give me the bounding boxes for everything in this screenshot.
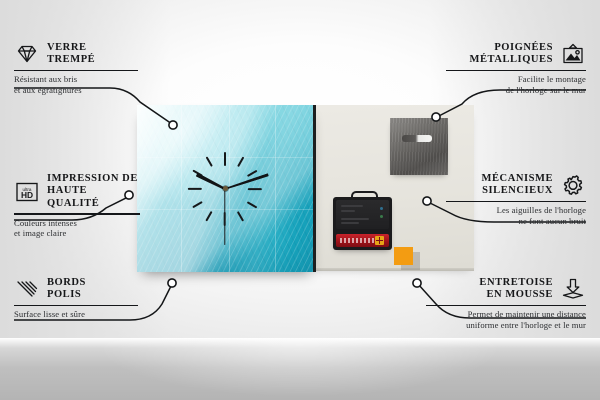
callout-subtitle-line1: Facilite le montage [446,74,586,85]
picture-hanger-icon [560,42,586,66]
background-floor-highlight [0,338,600,400]
ultra-hd-bottom: HD [21,190,33,200]
callout-rule [14,70,138,71]
callout-poignees-metalliques[interactable]: POIGNÉES MÉTALLIQUES Facilite le montage… [446,42,586,95]
callout-rule [446,70,586,71]
callout-title-line2: EN MOUSSE [479,289,553,301]
callout-title-line2: SILENCIEUX [482,185,553,197]
callout-title-line1: POIGNÉES [470,42,553,54]
callout-rule [14,213,140,214]
callout-verre-trempe[interactable]: VERRE TREMPÉ Résistant aux bris et aux é… [14,42,138,95]
callout-mecanisme-silencieux[interactable]: MÉCANISME SILENCIEUX Les aiguilles de l'… [446,173,586,226]
gear-icon [560,173,586,197]
callout-subtitle-line1: Surface lisse et sûre [14,309,138,320]
callout-title-line1: ENTRETOISE [479,277,553,289]
hanger-grain [390,118,448,175]
callout-title-row: ENTRETOISE EN MOUSSE [426,277,586,302]
callout-title-line1: BORDS [47,277,86,289]
ultra-hd-icon: ultra HD [14,180,40,204]
callout-subtitle-line1: Couleurs intenses [14,218,140,229]
callout-subtitle-line1: Résistant aux bris [14,74,138,85]
callout-subtitle-line1: Les aiguilles de l'horloge [446,205,586,216]
foam-spacer [394,247,413,265]
metal-hanger-plate [390,118,448,175]
callout-title-line2: MÉTALLIQUES [470,54,553,66]
polished-edge-icon [14,277,40,301]
callout-subtitle-line2: de l'horloge sur le mur [446,85,586,96]
callout-entretoise-en-mousse[interactable]: ENTRETOISE EN MOUSSE Permet de maintenir… [426,277,586,330]
callout-subtitle-line2: et image claire [14,228,140,239]
callout-title-line2: POLIS [47,289,86,301]
callout-title-row: VERRE TREMPÉ [14,42,138,67]
callout-rule [426,305,586,306]
callout-title-row: ultra HD IMPRESSION DE HAUTE QUALITÉ [14,173,140,210]
battery-plus-terminal [375,236,384,245]
callout-subtitle-line2: ne font aucun bruit [446,216,586,227]
callout-title-line1: MÉCANISME [482,173,553,185]
callout-rule [14,305,138,306]
infographic-canvas: VERRE TREMPÉ Résistant aux bris et aux é… [0,0,600,400]
battery [336,234,389,247]
callout-title-line2: HAUTE QUALITÉ [47,185,140,210]
clock-hand-hub [223,186,228,191]
callout-subtitle-line2: uniforme entre l'horloge et le mur [426,320,586,331]
product-wall-clock [137,105,474,275]
callout-rule [446,201,586,202]
callout-title-row: POIGNÉES MÉTALLIQUES [446,42,586,67]
callout-title-row: MÉCANISME SILENCIEUX [446,173,586,198]
callout-subtitle-line2: et aux égratignures [14,85,138,96]
callout-impression-haute-qualite[interactable]: ultra HD IMPRESSION DE HAUTE QUALITÉ Cou… [14,173,140,239]
hanger-slot [402,135,432,142]
callout-title-line1: VERRE [47,42,95,54]
callout-subtitle-line1: Permet de maintenir une distance [426,309,586,320]
clock-mechanism [333,197,392,250]
clock-back-panel-edge [309,268,474,271]
callout-title-line1: IMPRESSION DE [47,173,140,185]
mechanism-face [336,200,389,229]
foam-spacer-icon [560,277,586,301]
battery-label [340,238,374,243]
callout-bords-polis[interactable]: BORDS POLIS Surface lisse et sûre [14,277,138,320]
diamond-icon [14,42,40,66]
callout-title-row: BORDS POLIS [14,277,138,302]
callout-title-line2: TREMPÉ [47,54,95,66]
clock-glass-face [137,105,316,272]
